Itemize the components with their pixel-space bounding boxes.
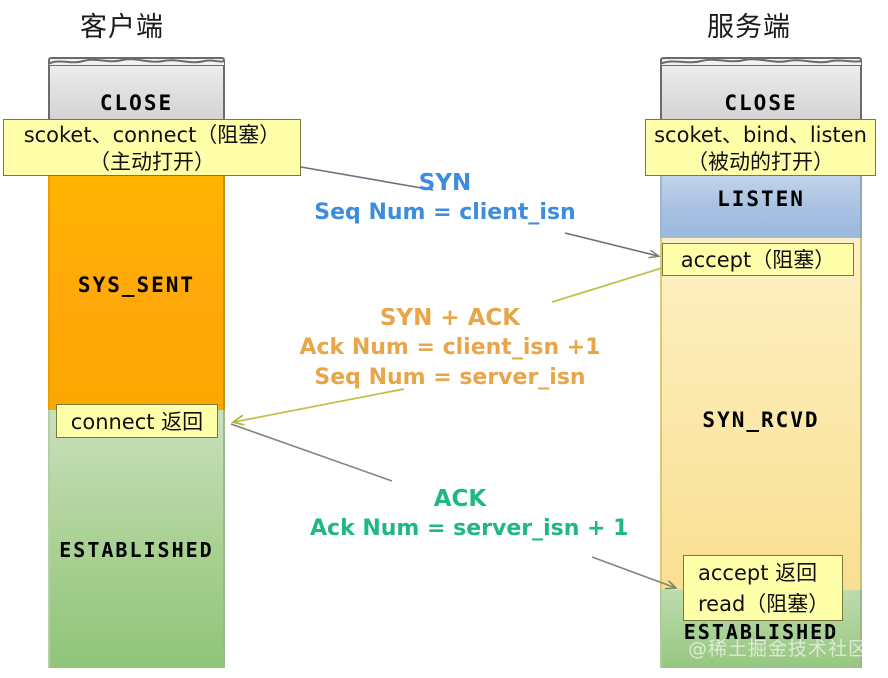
client-state-sys-sent: SYS_SENT xyxy=(48,175,225,410)
callout-client-open-line-1: scoket、connect（阻塞） xyxy=(10,122,294,149)
message-syn-line-1: Seq Num = client_isn xyxy=(300,198,590,228)
server-state-listen-label: LISTEN xyxy=(662,187,860,211)
callout-accept-block: accept（阻塞） xyxy=(662,243,854,276)
message-syn-ack-line-2: Seq Num = server_isn xyxy=(290,363,610,393)
callout-accept-block-line-1: accept（阻塞） xyxy=(669,246,847,275)
message-syn: SYN Seq Num = client_isn xyxy=(300,168,590,228)
callout-connect-return: connect 返回 xyxy=(56,404,218,438)
tcp-three-way-handshake-diagram: 客户端 服务端 CLOSE SYS_SENT ESTABLISHED CLOSE… xyxy=(0,0,888,678)
callout-accept-return: accept 返回 read（阻塞） xyxy=(683,555,843,621)
torn-edge-icon xyxy=(660,56,862,66)
callout-server-open-line-2: （被动的打开） xyxy=(652,149,869,176)
message-ack-line-1: Ack Num = server_isn + 1 xyxy=(310,514,610,544)
callout-server-open-line-1: scoket、bind、listen xyxy=(652,122,869,149)
callout-accept-return-line-2: read（阻塞） xyxy=(698,589,836,620)
message-syn-ack-header: SYN + ACK xyxy=(290,303,610,333)
client-state-established-label: ESTABLISHED xyxy=(50,538,223,562)
message-syn-header: SYN xyxy=(300,168,590,198)
client-column-title: 客户端 xyxy=(80,5,164,44)
message-ack-header: ACK xyxy=(310,484,610,514)
server-state-listen: LISTEN xyxy=(660,175,862,238)
client-state-close: CLOSE xyxy=(48,57,225,122)
callout-client-open-line-2: （主动打开） xyxy=(10,149,294,176)
watermark: @稀土掘金技术社区 xyxy=(688,634,868,661)
client-state-established: ESTABLISHED xyxy=(48,410,225,668)
server-state-close-label: CLOSE xyxy=(662,91,860,115)
callout-server-open: scoket、bind、listen （被动的打开） xyxy=(645,119,876,176)
server-state-close: CLOSE xyxy=(660,57,862,122)
server-state-syn-rcvd-label: SYN_RCVD xyxy=(662,408,860,432)
torn-edge-icon xyxy=(48,56,225,66)
message-syn-ack-line-1: Ack Num = client_isn +1 xyxy=(290,333,610,363)
message-ack: ACK Ack Num = server_isn + 1 xyxy=(310,484,610,544)
callout-client-open: scoket、connect（阻塞） （主动打开） xyxy=(3,119,301,176)
client-state-sys-sent-label: SYS_SENT xyxy=(50,273,223,297)
server-column-title: 服务端 xyxy=(707,5,791,44)
client-state-close-label: CLOSE xyxy=(50,91,223,115)
callout-connect-return-line-1: connect 返回 xyxy=(63,407,211,437)
callout-accept-return-line-1: accept 返回 xyxy=(698,558,836,589)
message-syn-ack: SYN + ACK Ack Num = client_isn +1 Seq Nu… xyxy=(290,303,610,393)
